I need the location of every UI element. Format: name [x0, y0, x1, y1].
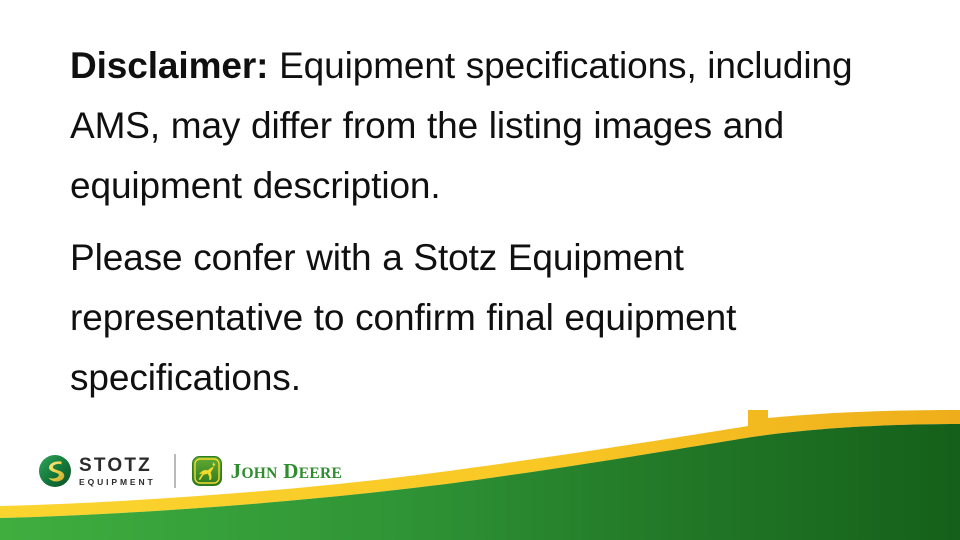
john-deere-logo[interactable]: JOHN DEERE	[192, 456, 342, 486]
jd-eere: EERE	[299, 465, 342, 482]
confer-paragraph: Please confer with a Stotz Equipment rep…	[70, 228, 915, 408]
stotz-s-swoosh-icon	[38, 454, 72, 488]
disclaimer-paragraph: Disclaimer: Equipment specifications, in…	[70, 36, 915, 216]
disclaimer-lead-label: Disclaimer:	[70, 45, 268, 86]
slide-text-block: Disclaimer: Equipment specifications, in…	[70, 36, 915, 408]
jd-j: J	[231, 459, 242, 483]
stotz-subtitle: EQUIPMENT	[79, 478, 156, 487]
disclaimer-slide: Disclaimer: Equipment specifications, in…	[0, 0, 960, 540]
stotz-name: STOTZ	[79, 456, 156, 475]
john-deere-wordmark: JOHN DEERE	[231, 459, 342, 484]
jd-d: D	[283, 459, 298, 483]
logo-bar: STOTZ EQUIPMENT JOHN DEERE	[38, 450, 342, 492]
stotz-equipment-logo[interactable]: STOTZ EQUIPMENT	[38, 454, 156, 488]
confer-paragraph-text: Please confer with a Stotz Equipment rep…	[70, 237, 736, 398]
john-deere-leaping-deer-icon	[192, 456, 222, 486]
jd-ohn: OHN	[241, 465, 277, 482]
stotz-wordmark: STOTZ EQUIPMENT	[79, 456, 156, 487]
logo-divider	[174, 454, 176, 488]
